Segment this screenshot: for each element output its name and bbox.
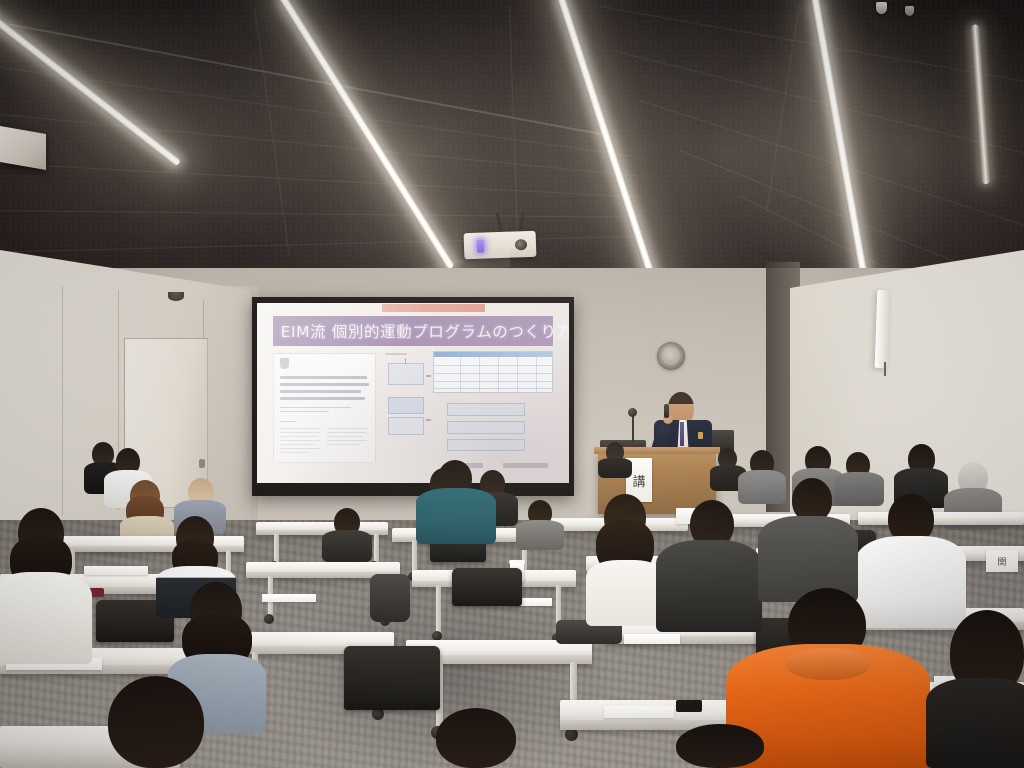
projection-screen: EIM流 個別的運動プログラムのつくり方 <box>252 297 574 496</box>
slide-paper-thumbnail <box>273 353 377 463</box>
chair <box>452 568 522 606</box>
microphone-stand <box>632 414 634 442</box>
smartphone <box>676 700 702 712</box>
slide-reference-table <box>433 351 554 393</box>
sprinkler-head-icon <box>876 2 887 14</box>
slide-surface: EIM流 個別的運動プログラムのつくり方 <box>257 303 569 483</box>
desk <box>858 512 1024 525</box>
ceiling <box>0 0 1024 300</box>
flow-arrow-icon <box>405 358 407 364</box>
slide-body <box>273 353 554 473</box>
floor-backpack <box>370 574 410 622</box>
flow-box <box>447 403 526 416</box>
ceiling-projector <box>464 231 537 259</box>
slide-title-bar: EIM流 個別的運動プログラムのつくり方 <box>273 316 554 346</box>
flow-box <box>447 421 526 434</box>
smoke-detector-icon <box>168 292 184 301</box>
paper-title-line <box>280 390 362 393</box>
flow-caption <box>385 353 407 355</box>
handout-paper <box>604 706 674 718</box>
paper-author-line <box>280 411 329 412</box>
paper-title-line <box>280 376 368 379</box>
chair <box>344 646 440 710</box>
name-card-label: 関 <box>997 555 1006 568</box>
paper-author-line <box>280 407 351 408</box>
door-handle-icon[interactable] <box>199 459 205 468</box>
projector-lens-icon <box>515 239 527 250</box>
table-header-row <box>434 352 553 357</box>
wall-seam <box>62 286 63 516</box>
handout-paper <box>624 634 680 644</box>
paper-logo-icon <box>280 358 289 369</box>
handheld-microphone-icon <box>664 404 669 418</box>
slide-logo <box>503 463 548 468</box>
paper-title-line <box>280 397 366 400</box>
rolled-projection-screen <box>875 290 891 368</box>
handout-paper <box>262 594 316 602</box>
podium-sign-label: 講 <box>632 471 645 490</box>
flow-arrow-icon <box>426 419 431 421</box>
hoodie-hood <box>786 648 870 680</box>
slide-accent-bar <box>382 304 485 312</box>
slide-title-text: EIM流 個別的運動プログラムのつくり方 <box>273 320 569 342</box>
lecture-hall-photo: EIM流 個別的運動プログラムのつくり方 <box>0 0 1024 768</box>
flow-box <box>388 363 425 385</box>
flow-box <box>388 417 425 435</box>
wall-clock-icon <box>657 342 685 370</box>
projector-power-led-icon <box>477 240 484 253</box>
flow-box <box>447 439 526 451</box>
screen-pull-cord[interactable] <box>884 362 886 376</box>
flow-arrow-icon <box>426 375 431 377</box>
flow-box <box>388 397 425 414</box>
microphone-icon <box>628 408 637 417</box>
paper-section-line <box>280 421 296 422</box>
handout-paper <box>84 566 148 575</box>
sprinkler-head-icon <box>905 6 914 16</box>
presenter-badge <box>698 432 703 439</box>
paper-title-line <box>280 383 370 386</box>
name-card: 関 <box>986 550 1018 572</box>
presenter-tie <box>680 422 684 446</box>
